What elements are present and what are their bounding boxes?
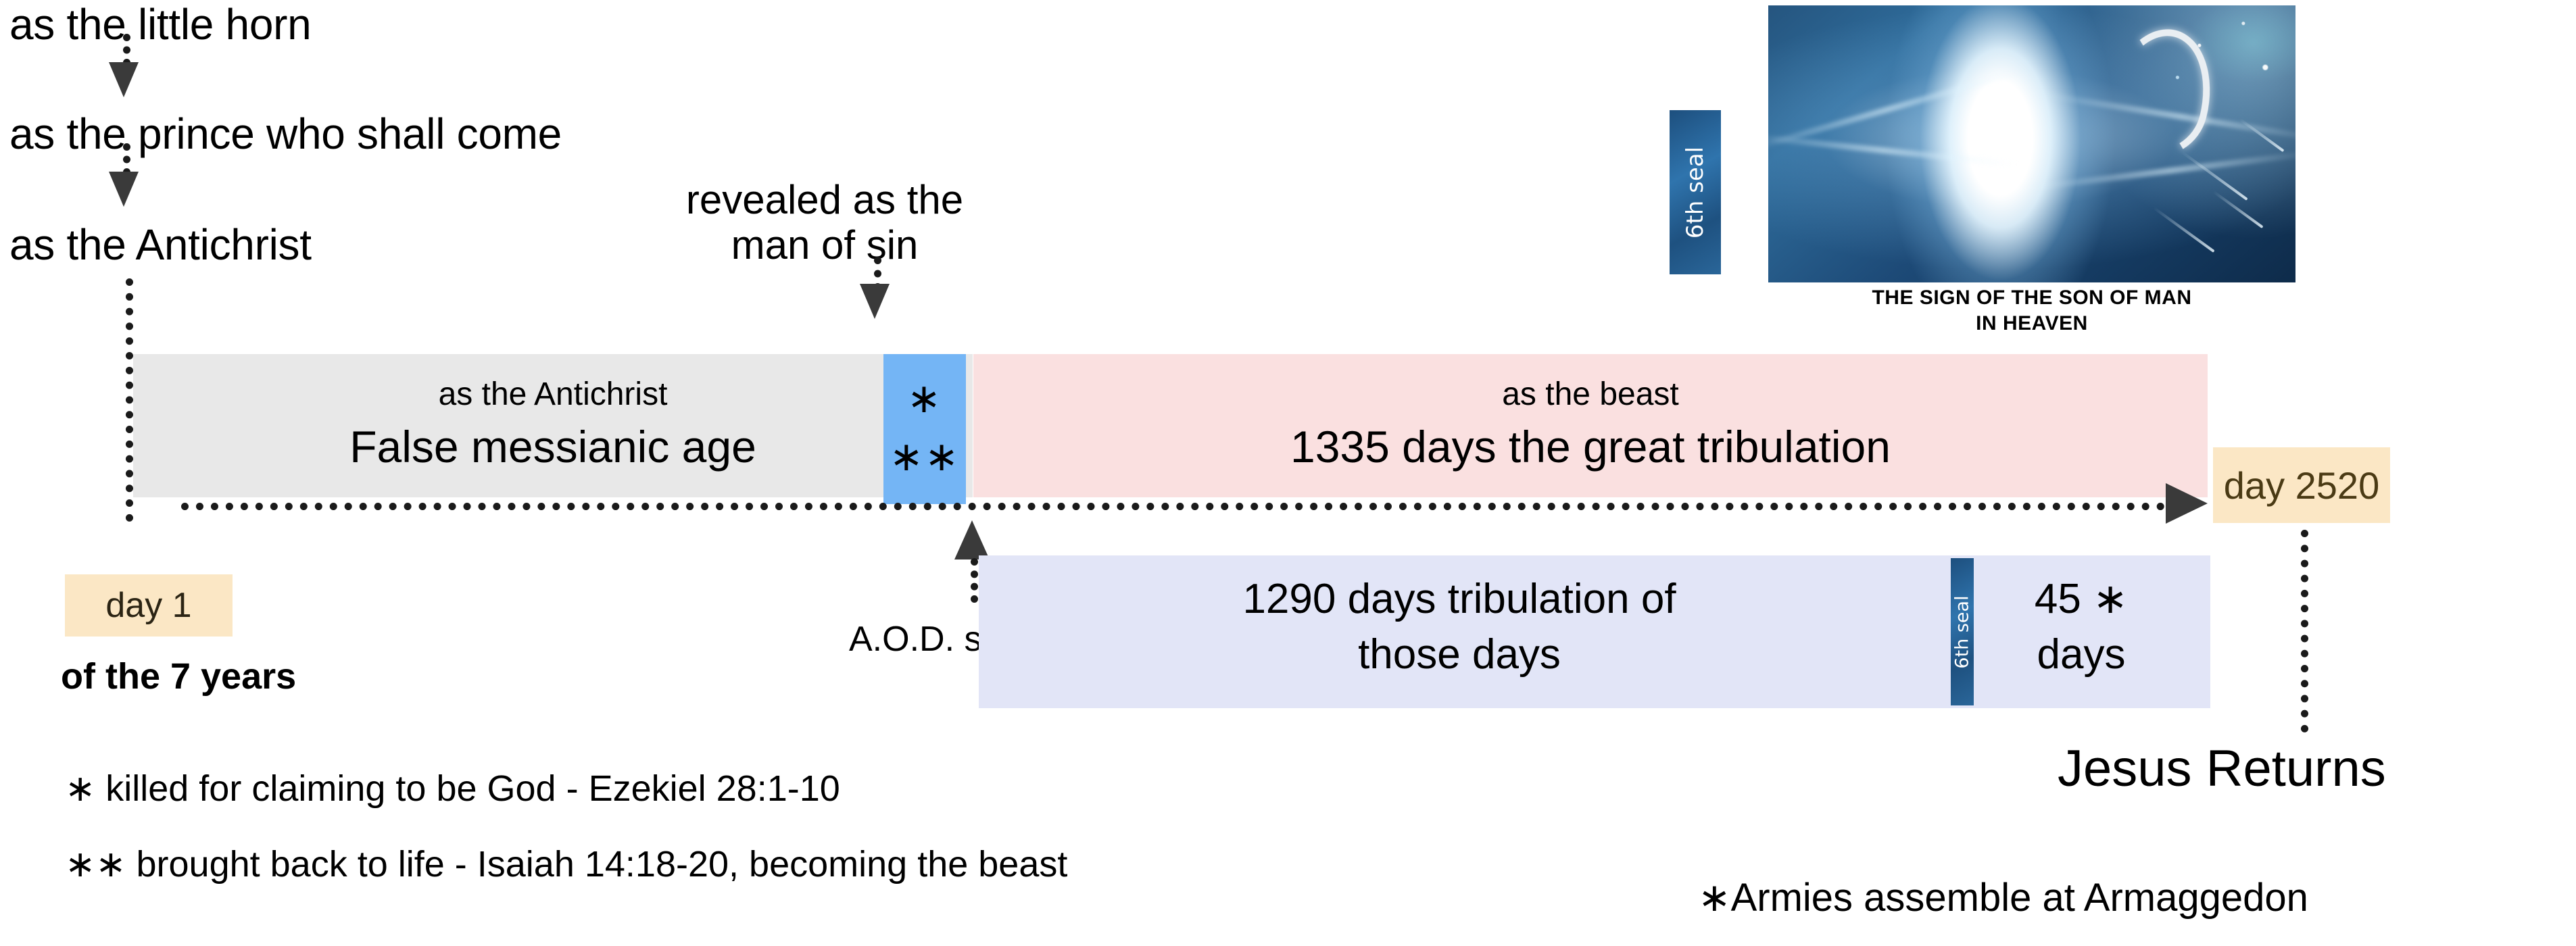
hero-caption-line1: THE SIGN OF THE SON OF MAN [1768, 285, 2295, 311]
revealed-note-line2: man of sin [635, 222, 1014, 268]
arrow-aod-to-timeline [954, 520, 990, 559]
seal-tab-bottom-label: 6th seal [1952, 595, 1973, 668]
arrow-revealed-to-bar [860, 284, 890, 319]
segment-grey-subtitle: as the Antichrist [133, 378, 973, 411]
timeline-axis-dotted [181, 503, 2165, 510]
connector-aod [971, 558, 978, 603]
sign-of-son-of-man-image [1768, 5, 2295, 282]
segment-pink-subtitle: as the beast [973, 378, 2208, 411]
segment-great-tribulation: as the beast 1335 days the great tribula… [973, 354, 2208, 497]
label-prince: as the prince who shall come [9, 112, 562, 155]
label-jesus-returns: Jesus Returns [2058, 743, 2386, 795]
revealed-note: revealed as the man of sin [635, 177, 1014, 268]
segment-blue-mark-bottom: ∗∗ [883, 437, 966, 477]
light-ray [1768, 133, 2018, 168]
segment-1290-line1: 1290 days tribulation of [1046, 577, 1872, 622]
segment-grey-title: False messianic age [133, 424, 973, 469]
label-of-the-7-years: of the 7 years [61, 658, 296, 695]
segment-1290-line2: those days [1046, 632, 1872, 677]
meteor-streak [2239, 118, 2284, 152]
segment-death-and-revival: ∗ ∗∗ [883, 354, 966, 504]
segment-45-days-line2: days [1979, 632, 2183, 677]
timeline-start-guide [126, 278, 133, 522]
seal-tab-hero-label: 6th seal [1682, 146, 1709, 238]
connector-horn-to-prince [123, 34, 130, 66]
segment-pink-title: 1335 days the great tribulation [973, 424, 2208, 469]
meteor-streak [2212, 191, 2263, 228]
segment-false-messianic-age: as the Antichrist False messianic age [133, 354, 973, 497]
segment-45-days-line1: 45 ∗ [1979, 577, 2183, 622]
hero-caption: THE SIGN OF THE SON OF MAN IN HEAVEN [1768, 285, 2295, 336]
seal-tab-hero: 6th seal [1670, 110, 1721, 274]
arrow-horn-to-prince [109, 62, 139, 97]
timeline-axis-arrowhead [2166, 483, 2208, 524]
footnote-armies-armaggedon: ∗Armies assemble at Armaggedon [1698, 878, 2308, 918]
day-2520-guide [2301, 530, 2308, 732]
label-antichrist: as the Antichrist [9, 223, 312, 266]
hero-caption-line2: IN HEAVEN [1768, 311, 2295, 337]
segment-1290-days: 1290 days tribulation of those days 45 ∗… [979, 555, 2210, 708]
meteor-streak [2153, 207, 2214, 253]
segment-blue-mark-top: ∗ [883, 378, 966, 419]
label-little-horn: as the little horn [9, 3, 311, 46]
chip-day-1: day 1 [65, 574, 233, 637]
seal-tab-bottom: 6th seal [1951, 558, 1974, 705]
footnote-single-asterisk: ∗ killed for claiming to be God - Ezekie… [65, 770, 840, 807]
connector-prince-to-antichrist [123, 143, 130, 176]
arrow-prince-to-antichrist [109, 172, 139, 207]
revealed-note-line1: revealed as the [635, 177, 1014, 222]
chip-day-2520: day 2520 [2213, 447, 2390, 523]
footnote-double-asterisk: ∗∗ brought back to life - Isaiah 14:18-2… [65, 846, 1067, 882]
